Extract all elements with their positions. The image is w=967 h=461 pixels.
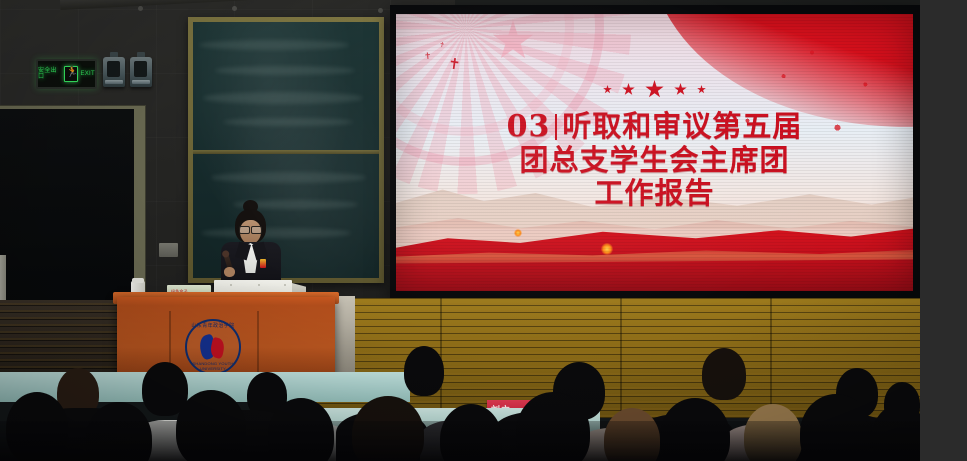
star-icon xyxy=(622,83,635,96)
bird-icon: ✝ xyxy=(438,41,445,49)
lapel-badge xyxy=(260,259,266,268)
slide-headline-line-3: 工作报告 xyxy=(396,177,913,210)
slide-headline-line-1: 03听取和审议第五届 xyxy=(396,110,913,144)
star-icon xyxy=(674,83,687,96)
emblem-bottom-text: SHANDONG YOUTH UNIVERSITY xyxy=(187,361,239,371)
glow-dot xyxy=(514,229,522,237)
university-emblem: 山东青年政治学院 SHANDONG YOUTH UNIVERSITY xyxy=(185,319,241,375)
headline-separator-bar xyxy=(555,114,557,140)
presentation-slide: ✝ ✝ ✝ xyxy=(396,14,913,291)
bird-icon: ✝ xyxy=(424,52,432,62)
emblem-swoosh-icon xyxy=(198,333,228,361)
star-icon xyxy=(645,80,664,99)
exit-sign-label-cn: 安全出口 xyxy=(38,68,62,80)
surveillance-camera-icon xyxy=(130,57,152,87)
slide-headline: 03听取和审议第五届 团总支学生会主席团 工作报告 xyxy=(396,110,913,210)
ceiling-fixture-dot xyxy=(138,6,143,11)
hand xyxy=(224,267,235,277)
ceiling-fixture-dot xyxy=(378,8,383,13)
ceiling-fixture-dot xyxy=(232,6,237,11)
screenshot-root: 安全出口 EXIT xyxy=(0,0,967,461)
auditorium-photo: 安全出口 EXIT xyxy=(0,0,920,461)
podium-side-panel xyxy=(333,296,355,372)
wall-socket xyxy=(159,243,178,257)
slide-section-number: 03 xyxy=(507,109,551,144)
slide-headline-line-2: 团总支学生会主席团 xyxy=(396,144,913,177)
glasses-icon xyxy=(239,226,262,232)
star-icon xyxy=(603,85,612,94)
letterbox-band-right xyxy=(920,0,967,461)
emblem-top-text: 山东青年政治学院 xyxy=(187,322,239,329)
audience-head xyxy=(702,348,746,400)
star-row xyxy=(396,80,913,99)
foreground-shadow xyxy=(0,421,920,461)
led-screen-bezel: ✝ ✝ ✝ xyxy=(390,5,920,301)
glow-dot xyxy=(601,243,613,255)
door-frame xyxy=(0,105,146,320)
door-panel xyxy=(0,109,134,317)
exit-sign-label-en: EXIT xyxy=(80,71,95,77)
emergency-exit-sign: 安全出口 EXIT xyxy=(36,59,97,89)
surveillance-camera-icon xyxy=(103,57,125,87)
star-icon xyxy=(697,85,706,94)
blackboard-divider xyxy=(193,150,379,154)
audience-head xyxy=(404,346,444,396)
slide-headline-line-1-text: 听取和审议第五届 xyxy=(562,109,802,143)
bird-icon: ✝ xyxy=(447,56,462,73)
running-man-icon xyxy=(64,66,78,82)
